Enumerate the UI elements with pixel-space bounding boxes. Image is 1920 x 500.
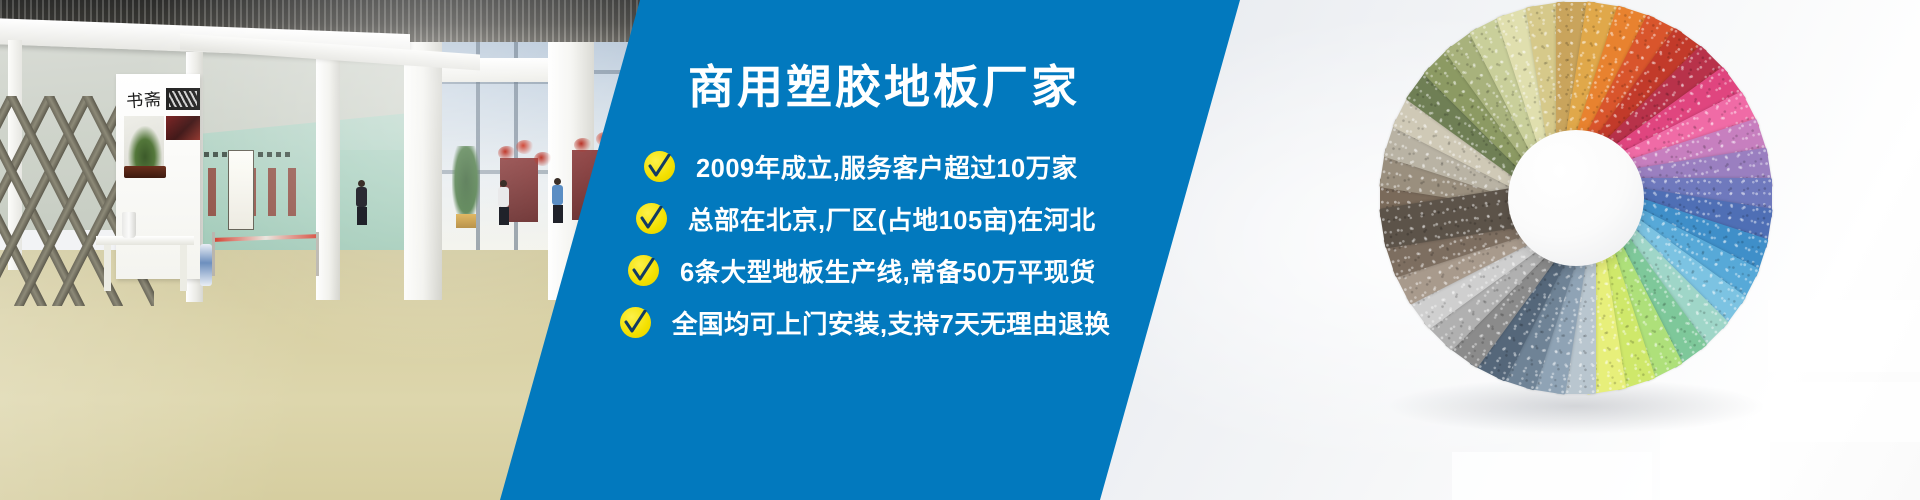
list-item-label: 2009年成立,服务客户超过10万家 xyxy=(696,148,1078,185)
visitor-figure xyxy=(356,180,367,225)
check-circle-icon xyxy=(628,255,659,286)
list-item-label: 总部在北京,厂区(占地105亩)在河北 xyxy=(688,200,1096,237)
list-item-label: 6条大型地板生产线,常备50万平现货 xyxy=(680,252,1096,289)
list-item: 6条大型地板生产线,常备50万平现货 xyxy=(628,244,1192,296)
visitor-figure xyxy=(498,180,509,225)
decorative-white-block xyxy=(1768,300,1920,372)
promo-banner: 书斋 商用塑胶地板厂家 2009年成立,服务客户超过10万家 xyxy=(0,0,1920,500)
list-item-label: 全国均可上门安装,支持7天无理由退换 xyxy=(672,304,1110,341)
flower-arrangement xyxy=(498,146,516,160)
pvc-floor-sample-fan xyxy=(1366,0,1786,408)
flower-arrangement xyxy=(574,138,592,152)
list-item: 全国均可上门安装,支持7天无理由退换 xyxy=(620,296,1192,348)
feature-list: 2009年成立,服务客户超过10万家 总部在北京,厂区(占地105亩)在河北 6… xyxy=(632,140,1192,348)
visitor-figure xyxy=(552,178,563,223)
page-title: 商用塑胶地板厂家 xyxy=(688,62,1208,113)
decorative-white-block xyxy=(1768,382,1920,442)
list-item: 2009年成立,服务客户超过10万家 xyxy=(644,140,1192,192)
check-circle-icon xyxy=(644,151,675,182)
list-item: 总部在北京,厂区(占地105亩)在河北 xyxy=(636,192,1192,244)
check-circle-icon xyxy=(620,307,651,338)
decorative-white-block xyxy=(1452,452,1652,500)
check-circle-icon xyxy=(636,203,667,234)
fan-hub xyxy=(1508,130,1644,266)
flower-arrangement xyxy=(534,152,552,166)
flower-arrangement xyxy=(516,140,534,154)
decorative-white-block xyxy=(1660,430,1770,500)
